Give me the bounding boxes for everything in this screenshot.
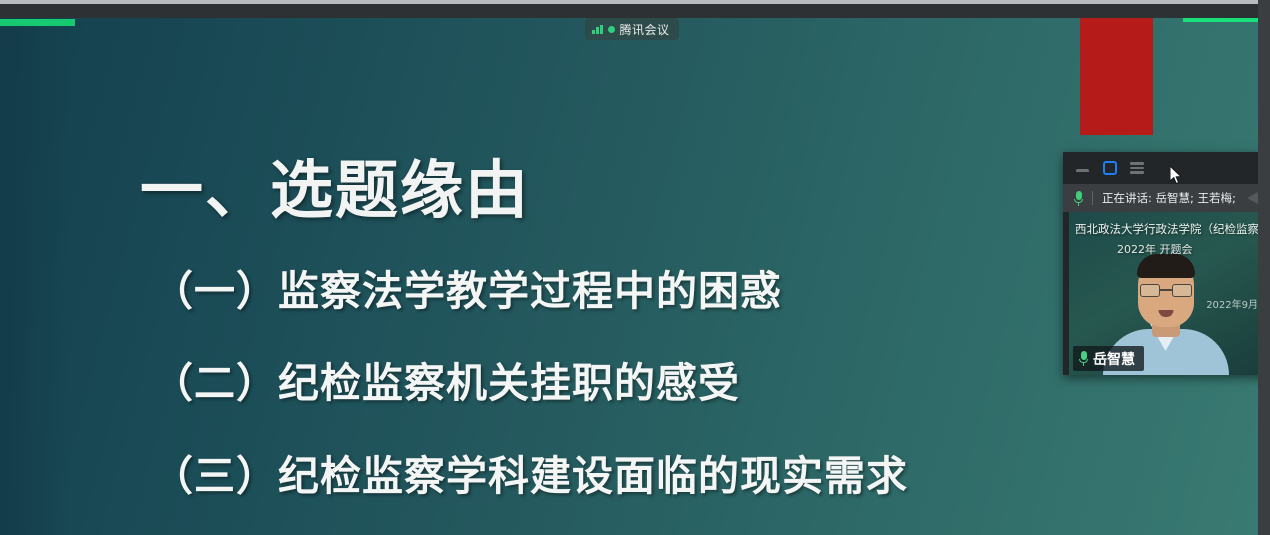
video-overlay-line-1: 西北政法大学行政法学院（纪检监察 (1075, 221, 1259, 237)
screen-root: 一、选题缘由 （一）监察法学教学过程中的困惑 （二）纪检监察机关挂职的感受 （三… (0, 0, 1270, 535)
divider (1092, 191, 1093, 205)
video-overlay-line-2: 2022年 开题会 (1117, 241, 1193, 257)
mouse-cursor-icon (1170, 166, 1183, 185)
slide-title: 一、选题缘由 (140, 140, 530, 231)
speaker-name-badge: 岳智慧 (1073, 346, 1144, 371)
slide-bullet-1: （一）监察法学教学过程中的困惑 (152, 257, 782, 317)
speaker-name: 岳智慧 (1093, 349, 1135, 369)
video-feed[interactable]: 西北政法大学行政法学院（纪检监察 2022年 开题会 2022年9月 岳智慧 (1069, 212, 1262, 375)
speaking-status-bar: 正在讲话: 岳智慧; 王若梅; (1063, 184, 1268, 212)
slide-bullet-3: （三）纪检监察学科建设面临的现实需求 (152, 442, 908, 502)
slide-edge-shade (0, 18, 70, 535)
minimize-icon[interactable] (1075, 161, 1090, 176)
screen-share-frame-top (1183, 18, 1267, 22)
red-annotation-block (1080, 18, 1153, 135)
restore-window-icon[interactable] (1103, 161, 1117, 175)
green-progress-bar (0, 19, 75, 26)
floating-video-window[interactable]: 正在讲话: 岳智慧; 王若梅; 西北政法大学行政法学院（纪检监察 2022年 开… (1063, 152, 1268, 375)
desktop-right-gutter (1258, 0, 1270, 535)
os-title-bar (0, 4, 1270, 18)
video-window-titlebar[interactable] (1063, 152, 1268, 184)
meeting-status-badge[interactable]: 腾讯会议 (585, 18, 679, 40)
glasses-icon (1140, 284, 1192, 297)
microphone-icon (1074, 191, 1083, 206)
signal-bars-icon (592, 25, 603, 34)
microphone-icon (1079, 351, 1088, 366)
slide-bullet-2: （二）纪检监察机关挂职的感受 (152, 349, 740, 409)
video-overlay-date: 2022年9月 (1206, 296, 1258, 311)
hamburger-menu-icon[interactable] (1130, 162, 1144, 174)
meeting-badge-label: 腾讯会议 (620, 21, 670, 38)
recording-dot-icon (608, 26, 615, 33)
speaking-status-text: 正在讲话: 岳智慧; 王若梅; (1102, 190, 1236, 206)
